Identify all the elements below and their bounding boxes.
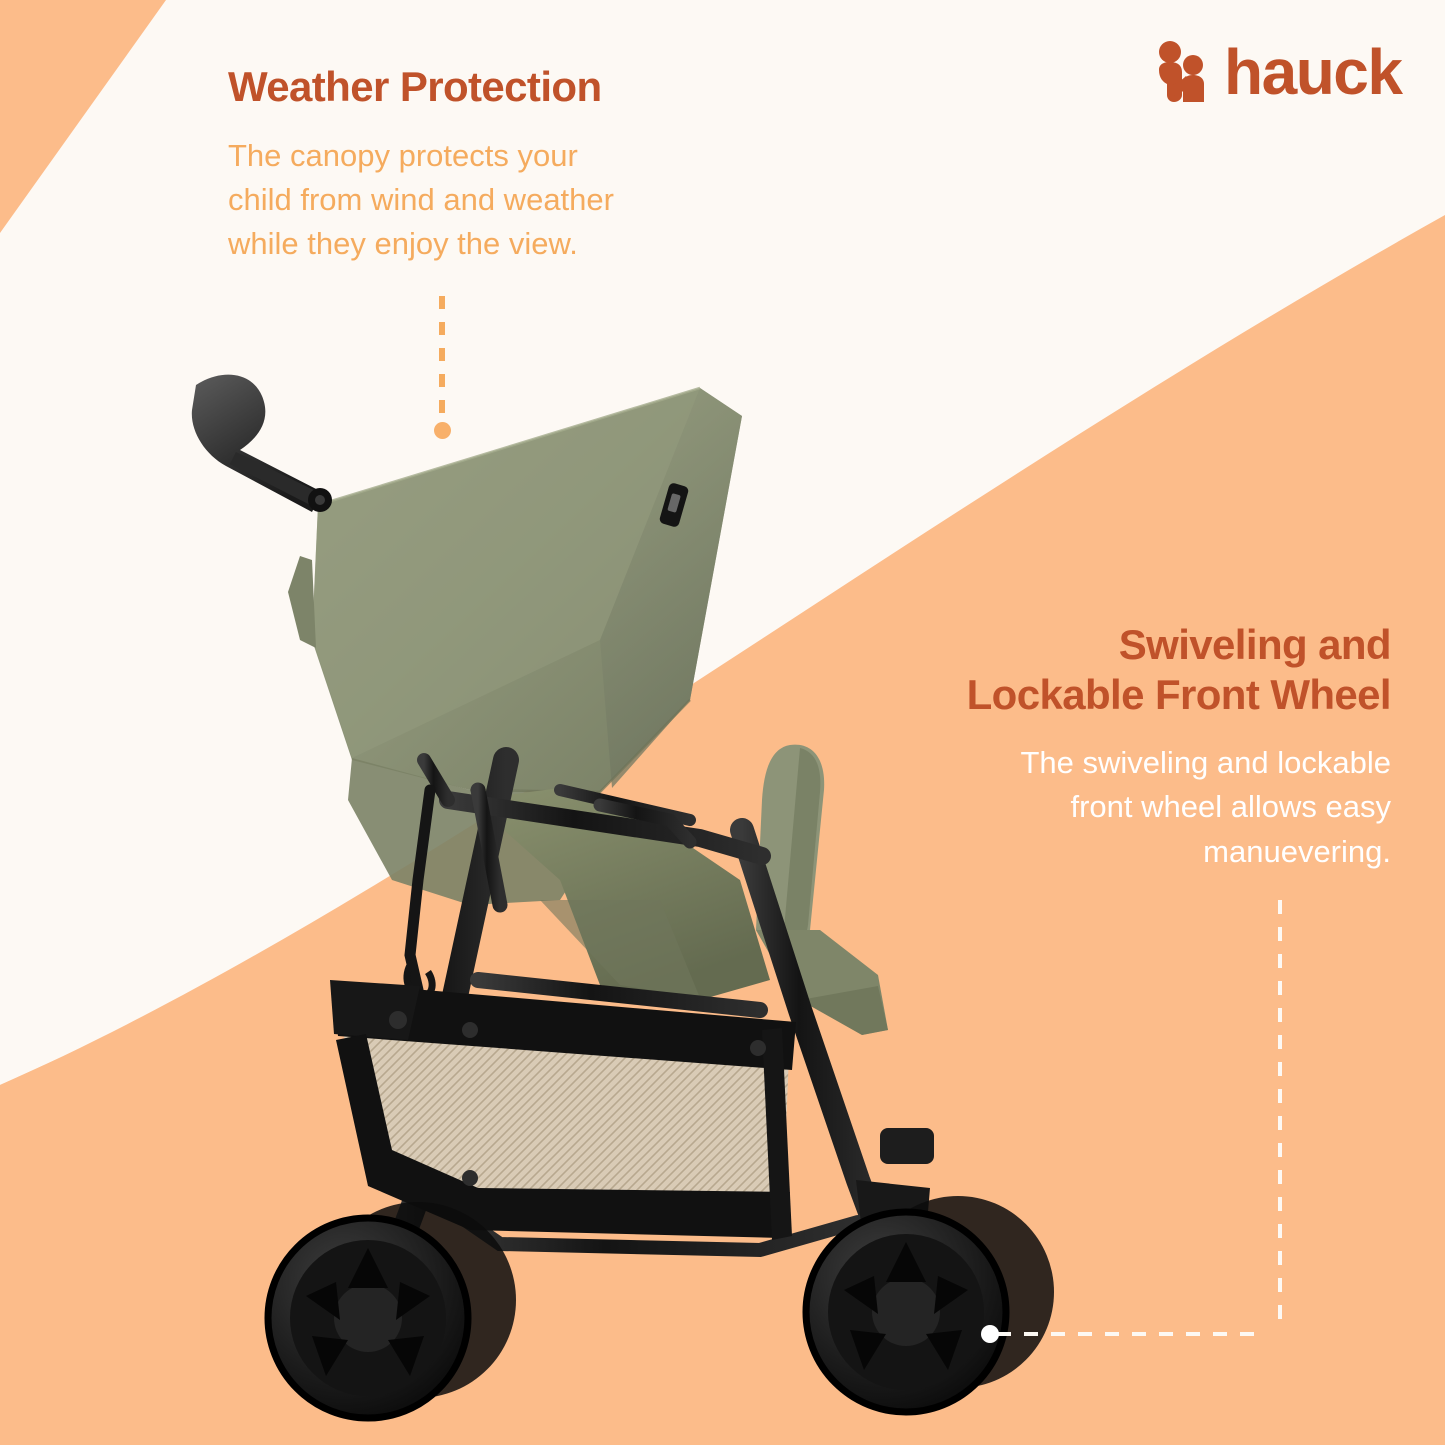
brand-logo[interactable]: hauck [1152, 40, 1401, 104]
feature-heading-line: Swiveling and [811, 620, 1391, 670]
connector-dashed-line-horizontal [997, 1332, 1265, 1336]
storage-basket [330, 980, 796, 1240]
canopy-side-panel [288, 556, 316, 648]
handle-grip [192, 375, 332, 512]
feature-body-line: The swiveling and lockable [811, 741, 1391, 785]
connector-endpoint-dot [981, 1325, 999, 1343]
wheel-lock-lever [880, 1128, 934, 1164]
feature-block-front-wheel: Swiveling and Lockable Front Wheel The s… [811, 620, 1391, 874]
feature-body-line: while they enjoy the view. [228, 222, 768, 266]
feature-body-line: front wheel allows easy [811, 785, 1391, 829]
feature-body-line: child from wind and weather [228, 178, 768, 222]
feature-body-weather-protection: The canopy protects your child from wind… [228, 134, 768, 267]
feature-block-weather-protection: Weather Protection The canopy protects y… [228, 62, 768, 267]
connector-weather-protection [434, 296, 450, 446]
feature-heading-weather-protection: Weather Protection [228, 62, 768, 112]
connector-front-wheel [975, 900, 1285, 1345]
rear-wheel [266, 1202, 516, 1420]
connector-endpoint-dot [434, 422, 451, 439]
feature-heading-front-wheel: Swiveling and Lockable Front Wheel [811, 620, 1391, 719]
connector-dashed-line [439, 296, 445, 424]
infographic-canvas: hauck Weather Protection The canopy prot… [0, 0, 1445, 1445]
feature-body-front-wheel: The swiveling and lockable front wheel a… [811, 741, 1391, 874]
brand-wordmark: hauck [1224, 40, 1401, 104]
parent-and-child-icon [1152, 40, 1210, 104]
feature-body-line: The canopy protects your [228, 134, 768, 178]
feature-body-line: manuevering. [811, 830, 1391, 874]
feature-heading-line: Lockable Front Wheel [811, 670, 1391, 720]
connector-dashed-line-vertical [1278, 900, 1282, 1328]
